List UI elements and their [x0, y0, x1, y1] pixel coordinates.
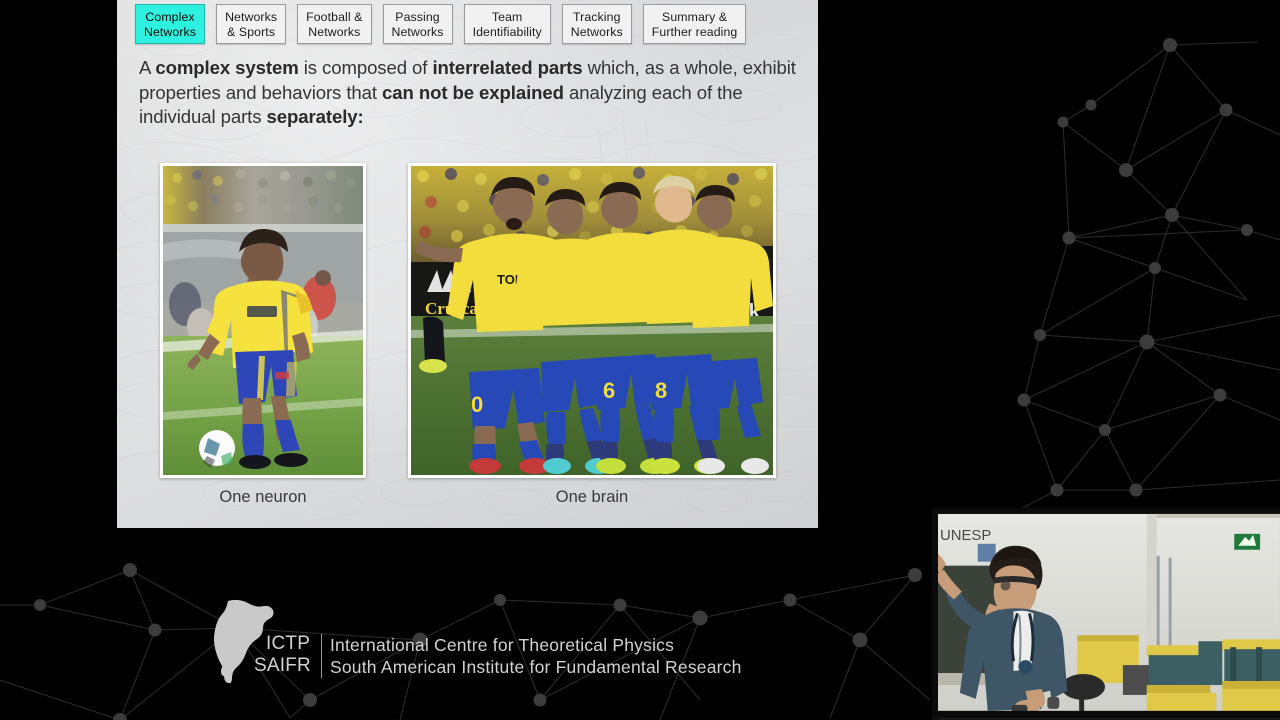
svg-text:8: 8 — [655, 378, 667, 403]
logo-acronym-ictp: ICTP — [266, 633, 310, 655]
logo-acronym-saifr: SAIFR — [254, 655, 311, 677]
section-tab-bar[interactable]: Complex Networks Networks & Sports Footb… — [117, 0, 818, 46]
body-emphasis-separately: separately: — [267, 106, 364, 127]
body-emphasis-can-not-be-explained: can not be explained — [382, 82, 564, 103]
lecture-hall-video: UNESP — [932, 508, 1280, 719]
tab-football-networks[interactable]: Football & Networks — [297, 4, 371, 44]
tab-passing-networks[interactable]: Passing Networks — [383, 4, 453, 44]
presentation-screen: Complex Networks Networks & Sports Footb… — [0, 0, 1280, 720]
speaker-video-inset[interactable]: UNESP — [930, 508, 1280, 720]
slide-body-text: A complex system is composed of interrel… — [139, 56, 807, 130]
tab-summary-further-reading[interactable]: Summary & Further reading — [643, 4, 747, 44]
caption-one-brain: One brain — [408, 488, 776, 507]
body-seg-2: is composed of — [299, 57, 433, 78]
ictp-saifr-logo: ICTP SAIFR International Centre for Theo… — [204, 598, 804, 688]
tab-complex-networks[interactable]: Complex Networks — [135, 4, 205, 44]
body-emphasis-interrelated-parts: interrelated parts — [432, 57, 582, 78]
svg-text:0: 0 — [471, 392, 483, 417]
logo-name-line-1: International Centre for Theoretical Phy… — [330, 634, 674, 656]
logo-name-line-2: South American Institute for Fundamental… — [330, 656, 742, 678]
tab-tracking-networks[interactable]: Tracking Networks — [562, 4, 632, 44]
body-seg-1: A — [139, 57, 155, 78]
svg-text:6: 6 — [603, 378, 615, 403]
figure-one-brain: TORR LOG Bank Cruzcar — [408, 163, 776, 478]
photo-team-celebration: TORR LOG Bank Cruzcar — [411, 166, 773, 475]
body-emphasis-complex-system: complex system — [155, 57, 298, 78]
caption-one-neuron: One neuron — [160, 488, 366, 507]
tab-networks-sports[interactable]: Networks & Sports — [216, 4, 286, 44]
logo-divider — [321, 634, 322, 678]
figure-one-neuron — [160, 163, 366, 478]
photo-single-player — [163, 166, 363, 475]
slide-canvas: Complex Networks Networks & Sports Footb… — [117, 0, 818, 528]
tab-team-identifiability[interactable]: Team Identifiability — [464, 4, 551, 44]
unesp-label: UNESP — [940, 528, 991, 544]
